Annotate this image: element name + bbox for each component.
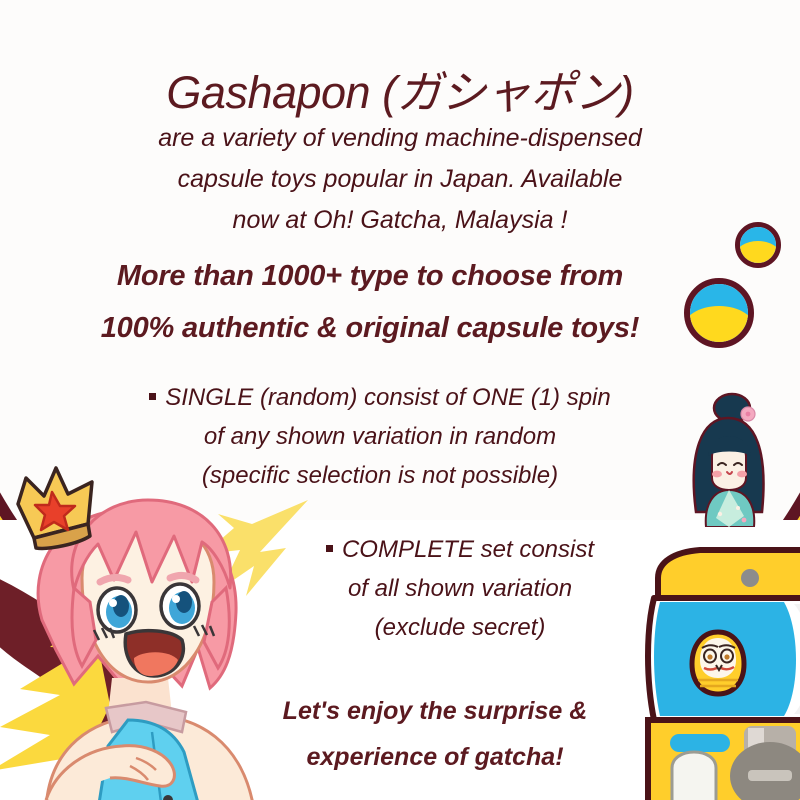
bullet-single-line-3: (specific selection is not possible) (110, 456, 650, 495)
closing-message: Let's enjoy the surprise & experience of… (215, 688, 655, 780)
bullet-single-line-2: of any shown variation in random (110, 417, 650, 456)
intro-paragraph: are a variety of vending machine-dispens… (110, 118, 690, 241)
closing-line-1: Let's enjoy the surprise & (215, 688, 655, 734)
bullet-complete-line-1: COMPLETE set consist (250, 530, 670, 569)
bullet-marker-icon (326, 545, 333, 552)
bullet-complete-text-1: COMPLETE set consist (342, 536, 594, 563)
crown-icon (8, 462, 113, 557)
bullet-marker-icon (149, 393, 156, 400)
headline-line-1: More than 1000+ type to choose from (40, 250, 700, 302)
bullet-complete-line-3: (exclude secret) (250, 608, 670, 647)
page-title: Gashapon (ガシャポン) (0, 56, 800, 121)
intro-line-3: now at Oh! Gatcha, Malaysia ! (110, 200, 690, 241)
bullet-complete: COMPLETE set consist of all shown variat… (250, 530, 670, 647)
headline-block: More than 1000+ type to choose from 100%… (40, 250, 700, 354)
gashapon-promo-poster: Gashapon (ガシャポン) are a variety of vendin… (0, 0, 800, 800)
headline-line-2: 100% authentic & original capsule toys! (40, 302, 700, 354)
bullet-single-line-1: SINGLE (random) consist of ONE (1) spin (110, 378, 650, 417)
capsule-toy-small-icon (735, 222, 781, 268)
intro-line-1: are a variety of vending machine-dispens… (110, 118, 690, 159)
closing-line-2: experience of gatcha! (215, 734, 655, 780)
intro-line-2: capsule toys popular in Japan. Available (110, 159, 690, 200)
bullet-complete-line-2: of all shown variation (250, 569, 670, 608)
bullet-single-text-1: SINGLE (random) consist of ONE (1) spin (165, 384, 610, 411)
bullet-single: SINGLE (random) consist of ONE (1) spin … (110, 378, 650, 495)
kokeshi-doll-icon (676, 392, 780, 527)
